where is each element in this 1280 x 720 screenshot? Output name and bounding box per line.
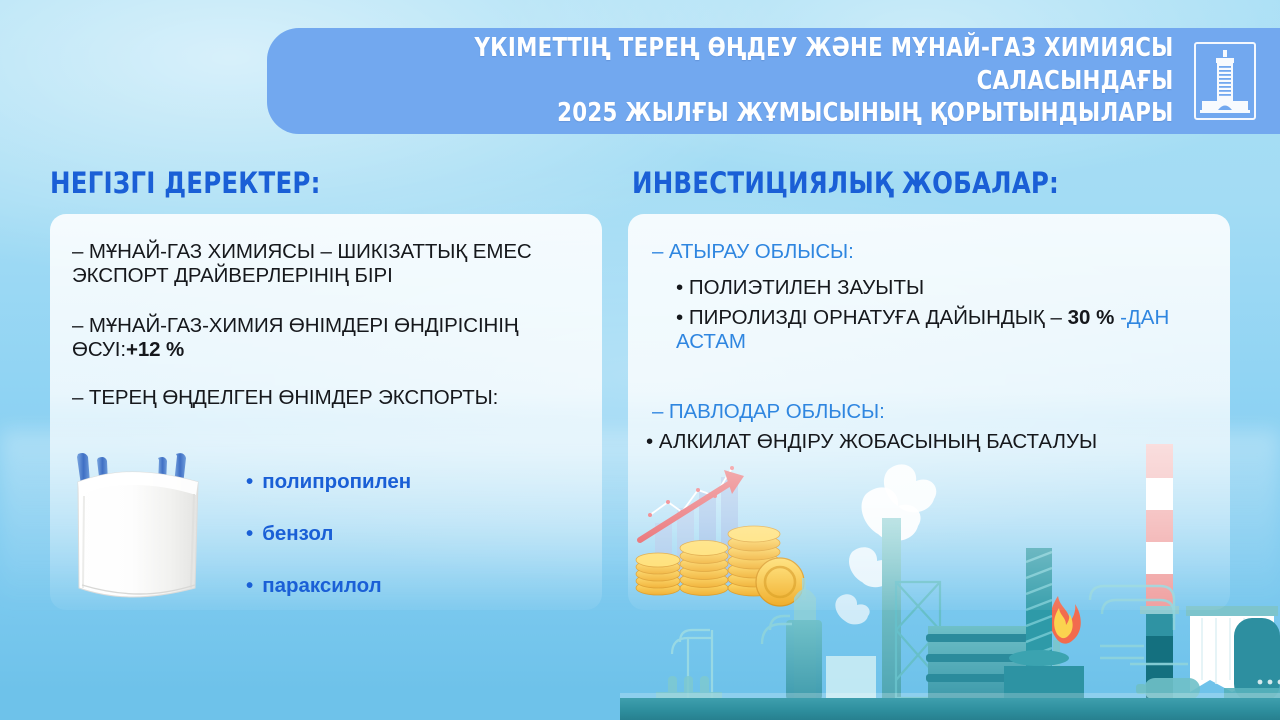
- bullet-icon: •: [246, 574, 253, 597]
- atyrau-project-2-text: • ПИРОЛИЗДІ ОРНАТУҒА ДАЙЫНДЫҚ –: [676, 306, 1068, 329]
- list-item: •параксилол: [246, 574, 411, 598]
- key-figure-item-1: – МҰНАЙ-ГАЗ ХИМИЯСЫ – ШИКІЗАТТЫҚ ЕМЕС ЭК…: [72, 240, 586, 288]
- product-name: параксилол: [262, 574, 382, 597]
- product-name: полипропилен: [262, 470, 411, 493]
- ground-strip: [620, 698, 1280, 720]
- page-title-line1: ҮКІМЕТТІҢ ТЕРЕҢ ӨҢДЕУ ЖӘНЕ МҰНАЙ-ГАЗ ХИМ…: [474, 33, 1173, 96]
- bulk-bag-icon: [62, 446, 214, 604]
- key-figure-item-3: – ТЕРЕҢ ӨҢДЕЛГЕН ӨНІМДЕР ЭКСПОРТЫ:: [72, 386, 586, 410]
- atyrau-project-2: • ПИРОЛИЗДІ ОРНАТУҒА ДАЙЫНДЫҚ – 30 % -ДА…: [676, 306, 1216, 354]
- export-products-list: •полипропилен •бензол •параксилол: [246, 470, 411, 626]
- list-item: •бензол: [246, 522, 411, 546]
- left-section-heading: НЕГІЗГІ ДЕРЕКТЕР:: [50, 166, 321, 200]
- pyrolysis-readiness-value: 30 %: [1068, 306, 1115, 329]
- list-item: •полипропилен: [246, 470, 411, 494]
- atyrau-project-1: • ПОЛИЭТИЛЕН ЗАУЫТЫ: [676, 276, 924, 300]
- region-label-pavlodar: – ПАВЛОДАР ОБЛЫСЫ:: [652, 400, 885, 424]
- key-figure-item-2: – МҰНАЙ-ГАЗ-ХИМИЯ ӨНІМДЕРІ ӨНДІРІСІНІҢ Ө…: [72, 314, 586, 362]
- bullet-icon: •: [246, 470, 253, 493]
- key-figures-card: – МҰНАЙ-ГАЗ ХИМИЯСЫ – ШИКІЗАТТЫҚ ЕМЕС ЭК…: [50, 214, 602, 610]
- pavlodar-project-1: • АЛКИЛАТ ӨНДІРУ ЖОБАСЫНЫҢ БАСТАЛУЫ: [646, 430, 1206, 454]
- page-title-line2: 2025 ЖЫЛҒЫ ЖҰМЫСЫНЫҢ ҚОРЫТЫНДЫЛАРЫ: [356, 97, 1173, 130]
- investment-projects-card: – АТЫРАУ ОБЛЫСЫ: • ПОЛИЭТИЛЕН ЗАУЫТЫ • П…: [628, 214, 1230, 610]
- bullet-icon: •: [246, 522, 253, 545]
- header-banner: ҮКІМЕТТІҢ ТЕРЕҢ ӨҢДЕУ ЖӘНЕ МҰНАЙ-ГАЗ ХИМ…: [267, 28, 1280, 134]
- production-growth-value: +12 %: [126, 338, 184, 361]
- government-building-icon: [1194, 42, 1256, 120]
- right-section-heading: ИНВЕСТИЦИЯЛЫҚ ЖОБАЛАР:: [632, 166, 1059, 200]
- product-name: бензол: [262, 522, 333, 545]
- region-label-atyrau: – АТЫРАУ ОБЛЫСЫ:: [652, 240, 854, 264]
- page-title: ҮКІМЕТТІҢ ТЕРЕҢ ӨҢДЕУ ЖӘНЕ МҰНАЙ-ГАЗ ХИМ…: [332, 32, 1194, 130]
